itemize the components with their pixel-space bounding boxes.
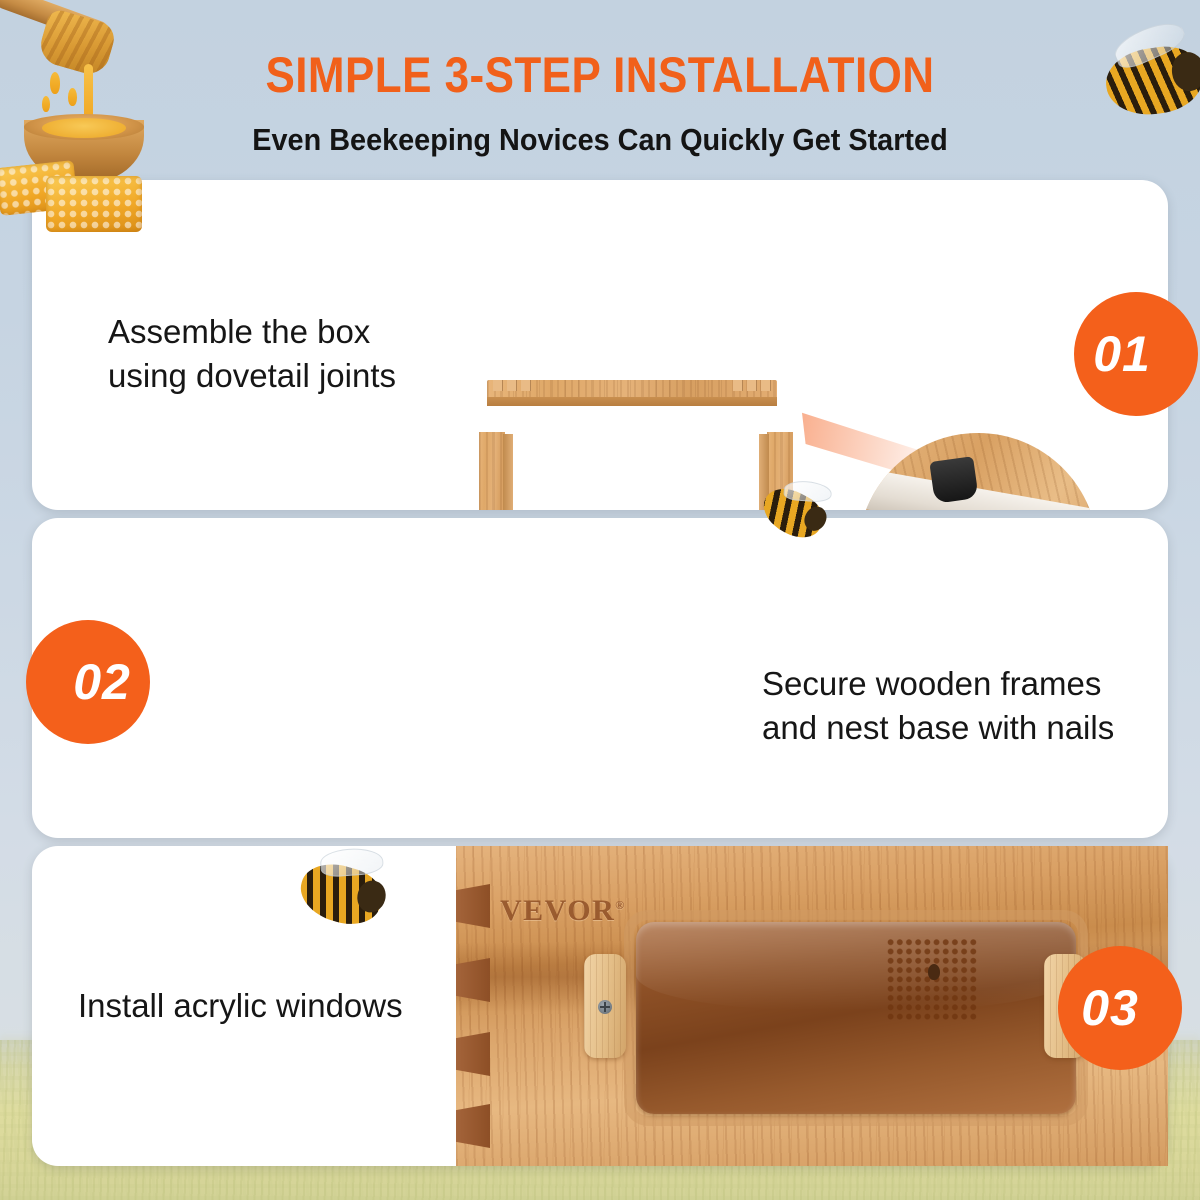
infographic-canvas: SIMPLE 3-STEP INSTALLATION Even Beekeepi… xyxy=(0,0,1200,1200)
bee-icon xyxy=(1102,42,1200,121)
page-subtitle: Even Beekeeping Novices Can Quickly Get … xyxy=(42,122,1158,158)
window-cleat-left xyxy=(584,954,626,1058)
dovetail-tooth xyxy=(456,884,490,928)
step-badge-02: 02 xyxy=(26,620,150,744)
dovetail-detail-circle xyxy=(858,433,1098,510)
honey-dipper-illustration xyxy=(0,0,166,244)
dovetail-tooth xyxy=(761,380,771,391)
dovetail-tooth xyxy=(456,958,490,1002)
vevor-wordmark: VEVOR xyxy=(500,894,615,927)
dovetail-tooth xyxy=(456,1032,490,1076)
acrylic-window xyxy=(636,922,1076,1114)
rail-lip xyxy=(487,397,777,406)
acrylic-glare xyxy=(636,922,1076,1010)
ventilation-hole-grid xyxy=(886,938,978,1022)
step-number-03: 03 xyxy=(1081,979,1139,1037)
hive-box-left-panel xyxy=(479,432,505,510)
step-number-02: 02 xyxy=(73,653,131,711)
step-badge-01: 01 xyxy=(1074,292,1198,416)
step-number-01: 01 xyxy=(1093,325,1151,383)
dovetail-tooth xyxy=(521,380,531,391)
page-title: SIMPLE 3-STEP INSTALLATION xyxy=(72,46,1128,104)
bee-on-vent-icon xyxy=(928,964,940,980)
mallet-icon xyxy=(929,456,978,504)
step-1-caption: Assemble the box using dovetail joints xyxy=(108,310,396,398)
dovetail-tooth xyxy=(507,380,517,391)
honey-pool xyxy=(42,118,126,138)
dovetail-tooth xyxy=(493,380,503,391)
dovetail-tooth xyxy=(733,380,743,391)
step-2-caption: Secure wooden frames and nest base with … xyxy=(762,662,1114,750)
hive-box-top-rail xyxy=(487,380,777,406)
trademark-symbol: ® xyxy=(615,898,625,912)
honey-drip xyxy=(42,96,50,112)
screw-icon xyxy=(598,1000,612,1014)
honey-drip xyxy=(50,72,60,94)
dovetail-tooth xyxy=(456,1104,490,1148)
dipper-head xyxy=(36,7,118,78)
dovetail-tooth xyxy=(747,380,757,391)
honeycomb-chunk xyxy=(46,176,142,232)
step-3-caption: Install acrylic windows xyxy=(78,984,403,1028)
hive-box-left-inner-edge xyxy=(503,434,513,510)
board-dovetail-edge xyxy=(456,846,490,1166)
step-badge-03: 03 xyxy=(1058,946,1182,1070)
vevor-logo: VEVOR® xyxy=(500,894,626,928)
honey-drip xyxy=(68,88,77,106)
